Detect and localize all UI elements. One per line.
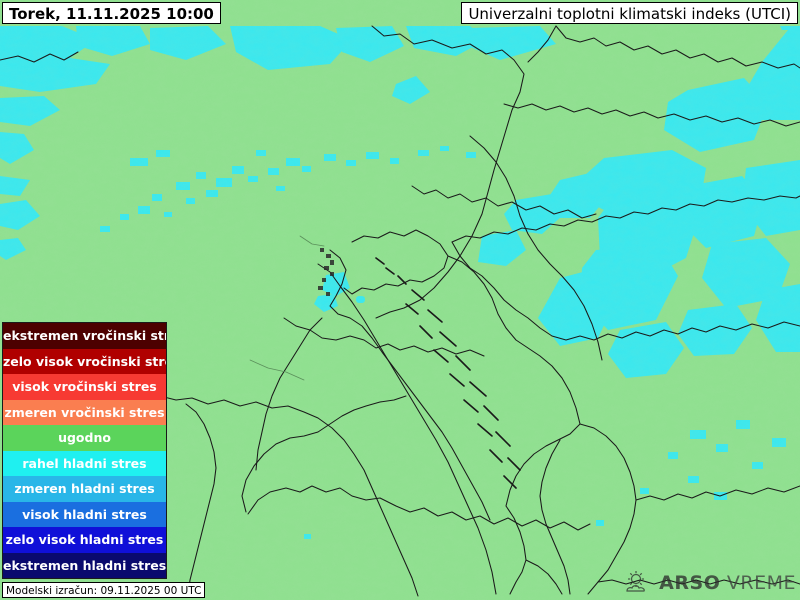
arso-vreme-logo[interactable]: ARSO VREME	[624, 570, 796, 596]
model-run-label: Modelski izračun: 09.11.2025 00 UTC	[2, 582, 205, 598]
arso-logo-text: ARSO VREME	[659, 572, 796, 594]
legend-row: ugodno	[3, 425, 166, 451]
legend-row: ekstremen vročinski stres	[3, 323, 166, 349]
legend-row-label: zmeren hladni stres	[14, 481, 154, 496]
legend-row: zelo visok vročinski stres	[3, 349, 166, 375]
utci-legend: ekstremen vročinski streszelo visok vroč…	[2, 322, 167, 579]
legend-row: visok hladni stres	[3, 502, 166, 528]
weather-map-screen: Torek, 11.11.2025 10:00 Univerzalni topl…	[0, 0, 800, 600]
legend-row-label: visok vročinski stres	[12, 379, 157, 394]
legend-row-label: ekstremen hladni stres	[3, 558, 166, 573]
legend-row-label: zelo visok vročinski stres	[3, 354, 166, 369]
legend-row-label: ugodno	[58, 430, 111, 445]
legend-row: zmeren vročinski stres	[3, 400, 166, 426]
legend-row-label: rahel hladni stres	[22, 456, 146, 471]
arso-logo-light: VREME	[727, 572, 796, 594]
legend-row: visok vročinski stres	[3, 374, 166, 400]
sun-cloud-icon	[624, 570, 654, 596]
legend-row-label: zelo visok hladni stres	[6, 532, 164, 547]
legend-row: zmeren hladni stres	[3, 476, 166, 502]
legend-row-label: ekstremen vročinski stres	[3, 328, 166, 343]
map-datetime-label: Torek, 11.11.2025 10:00	[2, 2, 221, 24]
legend-row: zelo visok hladni stres	[3, 527, 166, 553]
legend-row-label: zmeren vročinski stres	[4, 405, 164, 420]
map-product-title: Univerzalni toplotni klimatski indeks (U…	[461, 2, 798, 24]
legend-row-label: visok hladni stres	[22, 507, 147, 522]
legend-row: ekstremen hladni stres	[3, 553, 166, 579]
arso-logo-bold: ARSO	[659, 572, 720, 594]
legend-row: rahel hladni stres	[3, 451, 166, 477]
